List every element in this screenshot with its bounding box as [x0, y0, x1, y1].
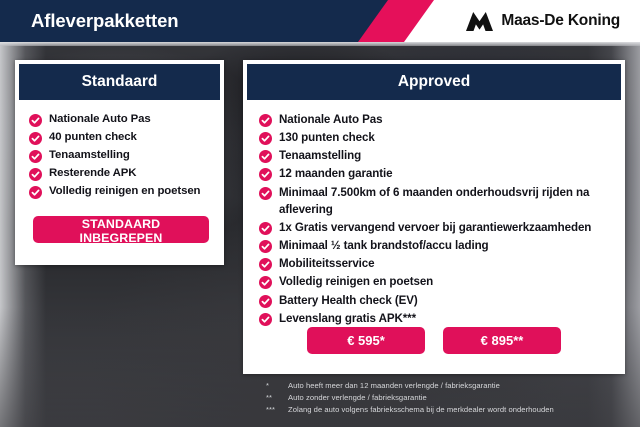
price-button-895[interactable]: € 895** [443, 327, 561, 354]
feature-label: Resterende APK [49, 165, 136, 182]
feature-list-standaard: Nationale Auto Pas 40 punten check Tenaa… [15, 100, 224, 199]
page-title: Afleverpakketten [31, 0, 179, 42]
check-circle-icon [29, 132, 42, 145]
list-item: 1x Gratis vervangend vervoer bij garanti… [243, 219, 625, 236]
check-circle-icon [259, 258, 272, 271]
check-circle-icon [259, 132, 272, 145]
check-circle-icon [259, 114, 272, 127]
maas-de-koning-m-logo-icon [466, 12, 493, 31]
footnote-text: Auto heeft meer dan 12 maanden verlengde… [288, 380, 500, 392]
feature-label: Volledig reinigen en poetsen [279, 273, 433, 290]
list-item: Tenaamstelling [15, 147, 224, 164]
feature-label: Volledig reinigen en poetsen [49, 183, 200, 200]
footnote-marker: * [266, 380, 288, 392]
feature-label: 130 punten check [279, 129, 375, 146]
list-item: 40 punten check [15, 129, 224, 146]
package-card-standaard: Standaard Nationale Auto Pas 40 punten c… [15, 60, 224, 265]
footnote-item: * Auto heeft meer dan 12 maanden verleng… [266, 380, 626, 392]
footnote-item: ** Auto zonder verlengde / fabrieksgaran… [266, 392, 626, 404]
feature-label: Minimaal ½ tank brandstof/accu lading [279, 237, 489, 254]
feature-label: Battery Health check (EV) [279, 292, 418, 309]
feature-label: 40 punten check [49, 129, 137, 146]
check-circle-icon [29, 114, 42, 127]
footnote-text: Auto zonder verlengde / fabrieksgarantie [288, 392, 427, 404]
check-circle-icon [259, 150, 272, 163]
list-item: Tenaamstelling [243, 147, 625, 164]
list-item: 130 punten check [243, 129, 625, 146]
list-item: Minimaal 7.500km of 6 maanden onderhouds… [243, 184, 625, 218]
check-circle-icon [29, 186, 42, 199]
feature-list-approved: Nationale Auto Pas 130 punten check Tena… [243, 100, 625, 327]
feature-label: Mobiliteitsservice [279, 255, 375, 272]
footnote-marker: *** [266, 404, 288, 416]
footnote-marker: ** [266, 392, 288, 404]
list-item: Resterende APK [15, 165, 224, 182]
page-header: Afleverpakketten Maas-De Koning [0, 0, 640, 42]
check-circle-icon [259, 187, 272, 200]
list-item: Minimaal ½ tank brandstof/accu lading [243, 237, 625, 254]
feature-label: 12 maanden garantie [279, 165, 392, 182]
card-title-approved: Approved [247, 64, 621, 100]
check-circle-icon [259, 295, 272, 308]
list-item: Mobiliteitsservice [243, 255, 625, 272]
brand-name: Maas-De Koning [501, 12, 620, 30]
standaard-inbegrepen-button[interactable]: STANDAARD INBEGREPEN [33, 216, 209, 243]
feature-label: Tenaamstelling [279, 147, 361, 164]
list-item: Volledig reinigen en poetsen [243, 273, 625, 290]
list-item: Nationale Auto Pas [15, 111, 224, 128]
card-title-standaard: Standaard [19, 64, 220, 100]
footnote-item: *** Zolang de auto volgens fabrieksschem… [266, 404, 626, 416]
feature-label: Nationale Auto Pas [49, 111, 151, 128]
list-item: Levenslang gratis APK*** [243, 310, 625, 327]
check-circle-icon [259, 276, 272, 289]
feature-label: Nationale Auto Pas [279, 111, 382, 128]
list-item: 12 maanden garantie [243, 165, 625, 182]
feature-label: Minimaal 7.500km of 6 maanden onderhouds… [279, 184, 611, 218]
check-circle-icon [259, 168, 272, 181]
feature-label: Tenaamstelling [49, 147, 130, 164]
list-item: Nationale Auto Pas [243, 111, 625, 128]
feature-label: Levenslang gratis APK*** [279, 310, 416, 327]
list-item: Volledig reinigen en poetsen [15, 183, 224, 200]
check-circle-icon [259, 222, 272, 235]
list-item: Battery Health check (EV) [243, 292, 625, 309]
price-button-row: € 595* € 895** [243, 327, 625, 354]
package-card-approved: Approved Nationale Auto Pas 130 punten c… [243, 60, 625, 374]
check-circle-icon [259, 240, 272, 253]
feature-label: 1x Gratis vervangend vervoer bij garanti… [279, 219, 591, 236]
check-circle-icon [29, 168, 42, 181]
header-underline [0, 42, 640, 46]
footnote-list: * Auto heeft meer dan 12 maanden verleng… [266, 380, 626, 416]
check-circle-icon [259, 313, 272, 326]
brand-lockup: Maas-De Koning [466, 0, 620, 42]
check-circle-icon [29, 150, 42, 163]
price-button-595[interactable]: € 595* [307, 327, 425, 354]
footnote-text: Zolang de auto volgens fabrieksschema bi… [288, 404, 554, 416]
poster-canvas: Afleverpakketten Maas-De Koning Standaar… [0, 0, 640, 427]
